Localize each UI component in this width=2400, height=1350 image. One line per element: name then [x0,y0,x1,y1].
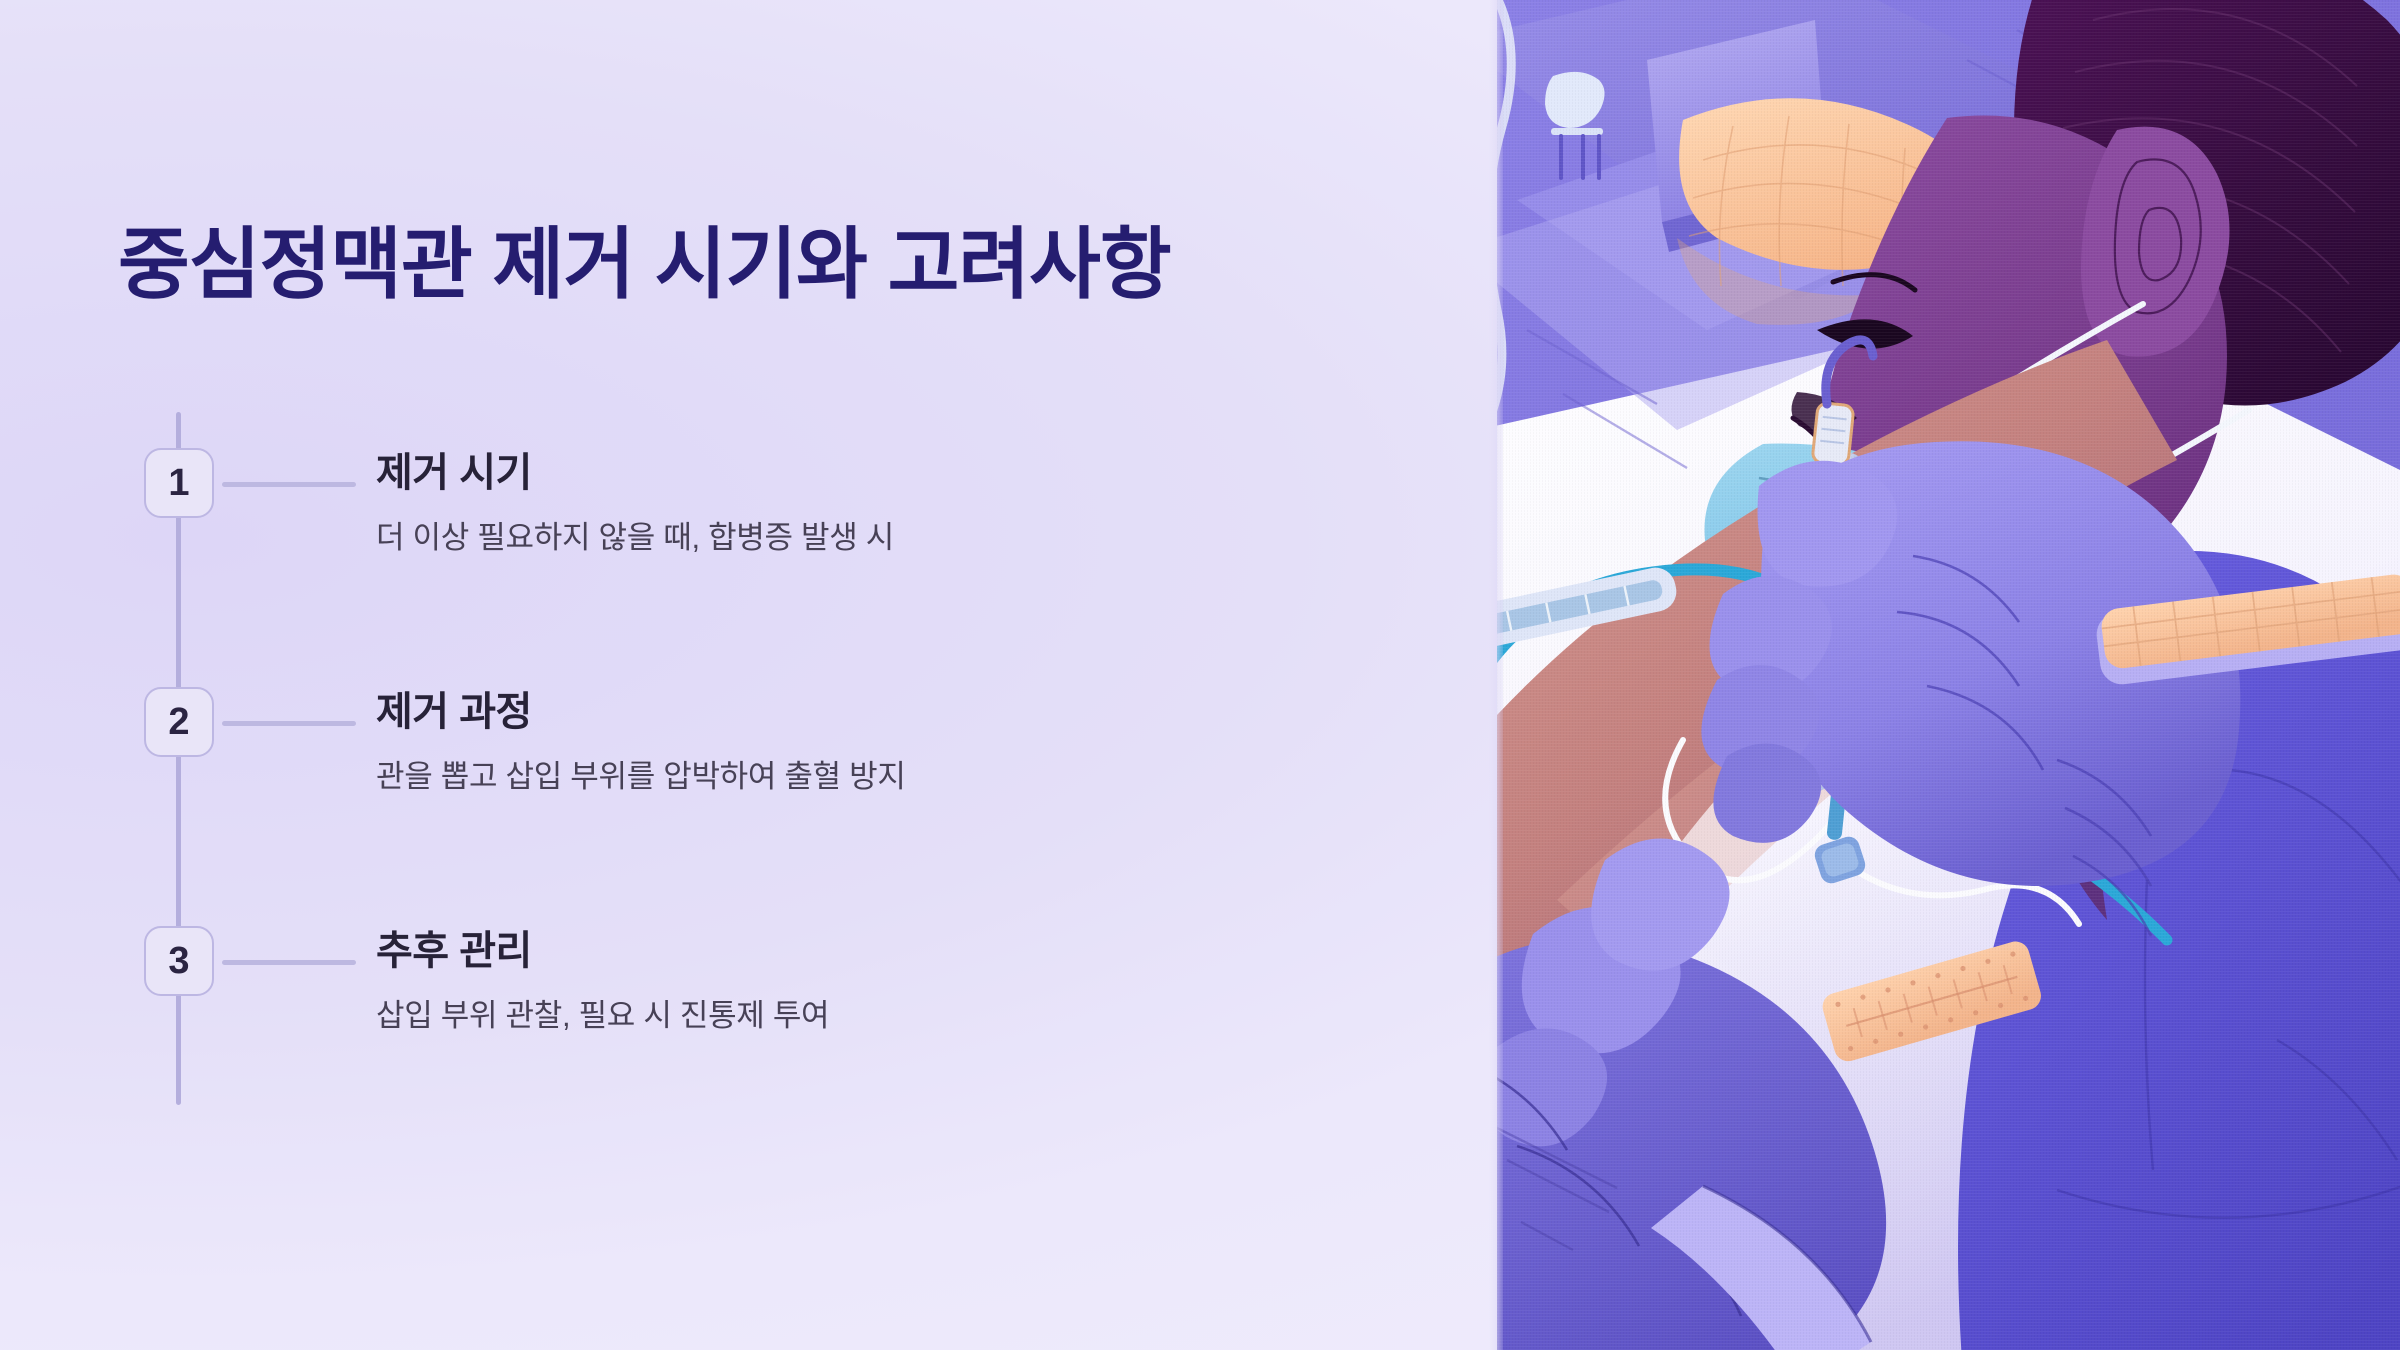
slide-root: 중심정맥관 제거 시기와 고려사항 1 제거 시기 더 이상 필요하지 않을 때… [0,0,2400,1350]
timeline: 1 제거 시기 더 이상 필요하지 않을 때, 합병증 발생 시 2 제거 과정… [0,0,1497,1350]
step-description-2: 관을 뽑고 삽입 부위를 압박하여 출혈 방지 [376,751,906,796]
device-cap [1812,402,1854,465]
step-heading-2: 제거 과정 [376,679,532,737]
step-number-badge-1: 1 [144,448,214,518]
step-connector-3 [222,960,356,965]
step-number-badge-2: 2 [144,687,214,757]
step-connector-1 [222,482,356,487]
step-heading-1: 제거 시기 [376,440,532,498]
step-description-1: 더 이상 필요하지 않을 때, 합병증 발생 시 [376,512,894,557]
step-connector-2 [222,721,356,726]
step-description-3: 삽입 부위 관찰, 필요 시 진통제 투여 [376,990,829,1035]
content-pane: 중심정맥관 제거 시기와 고려사항 1 제거 시기 더 이상 필요하지 않을 때… [0,0,1497,1350]
medical-illustration [1497,0,2400,1350]
step-heading-3: 추후 관리 [376,918,532,976]
step-number-badge-3: 3 [144,926,214,996]
